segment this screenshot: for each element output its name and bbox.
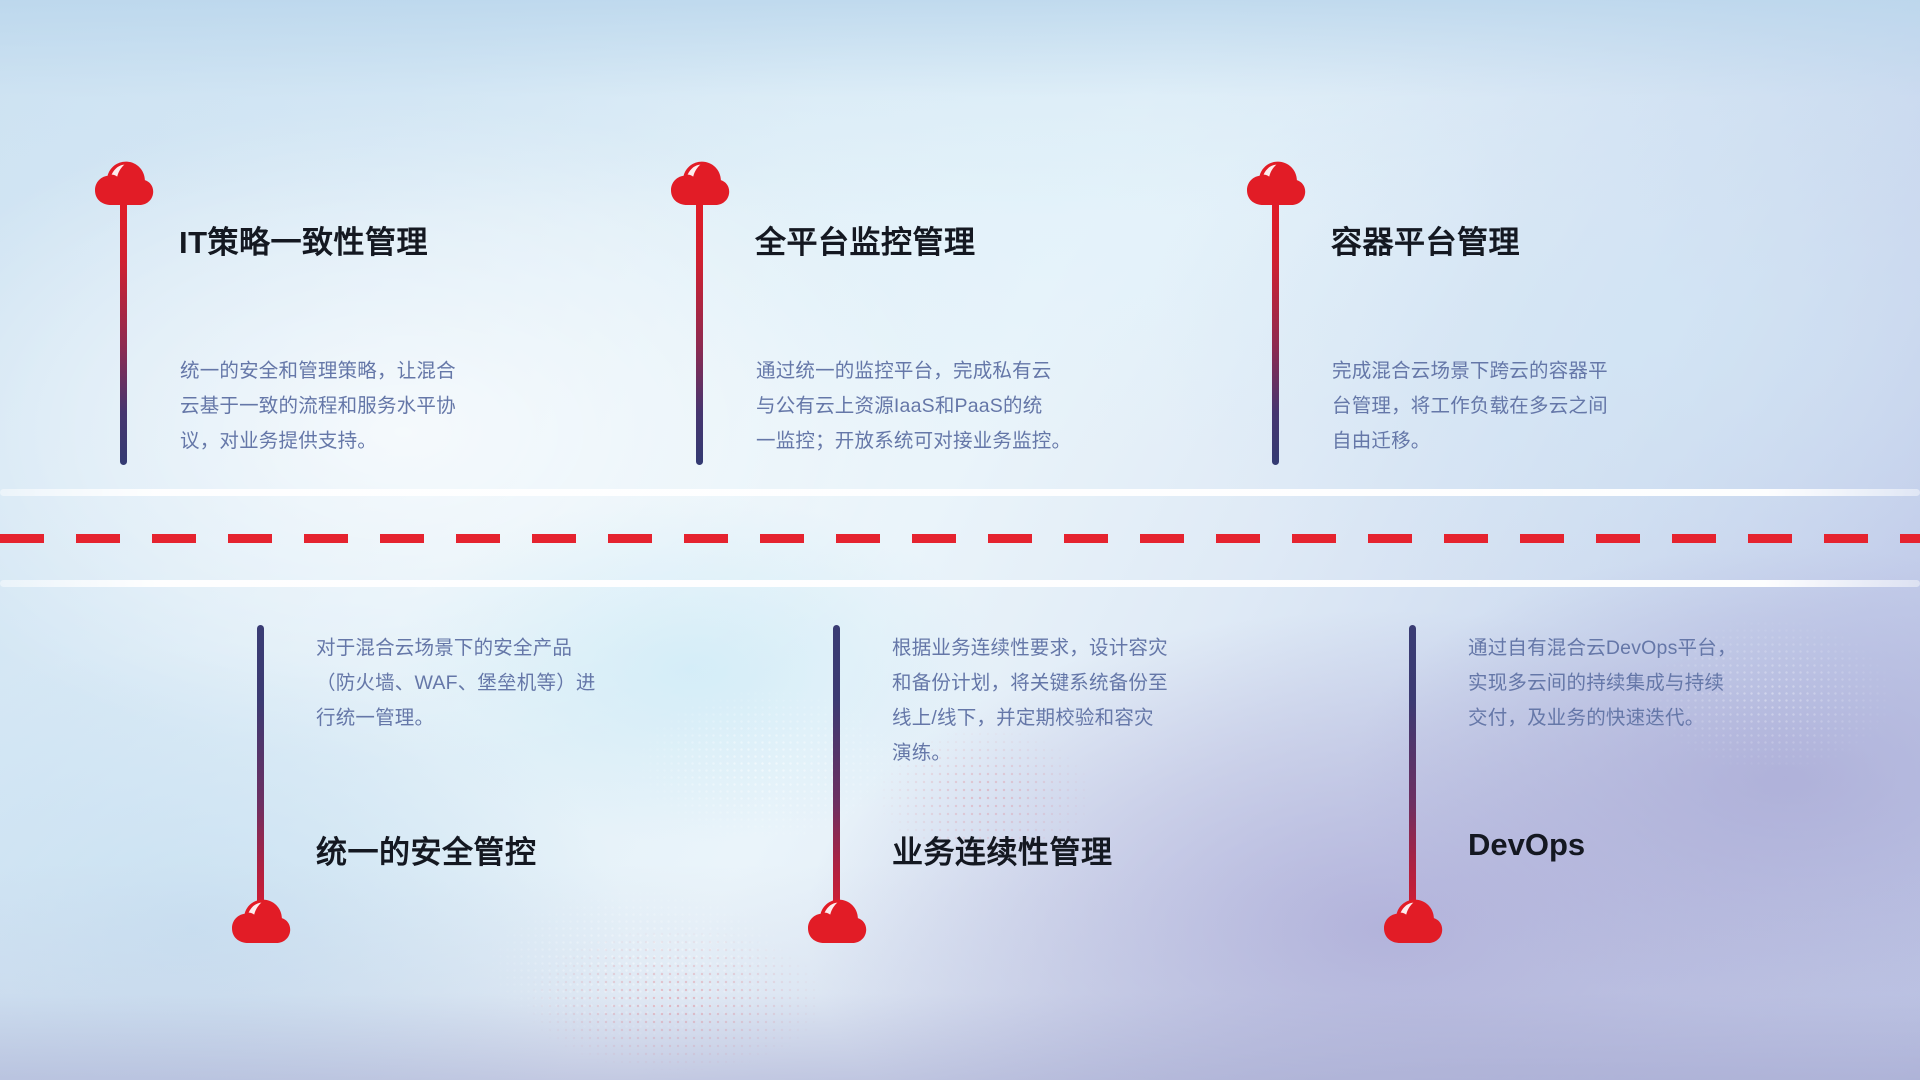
card-bottom-3: 通过自有混合云DevOps平台， 实现多云间的持续集成与持续 交付，及业务的快速… [0,0,640,500]
connector-stem [1272,200,1279,465]
connector-stem [257,625,264,915]
card-body: 根据业务连续性要求，设计容灾 和备份计划，将关键系统备份至 线上/线下，并定期校… [892,631,1332,771]
connector-stem [696,200,703,465]
divider-line-bottom [0,580,1920,587]
card-body: 对于混合云场景下的安全产品 （防火墙、WAF、堡垒机等）进 行统一管理。 [316,631,746,736]
cloud-icon [806,898,868,944]
card-title: 容器平台管理 [1331,217,1520,262]
card-title: 统一的安全管控 [316,827,537,872]
divider-dashed-line [0,534,1920,543]
infographic-canvas: IT策略一致性管理 统一的安全和管理策略，让混合 云基于一致的流程和服务水平协 … [0,0,1920,1080]
card-title: 全平台监控管理 [755,217,976,262]
connector-stem [1409,625,1416,915]
cloud-icon [1382,898,1444,944]
texture-speckle-red-a [530,930,820,1070]
card-body: 完成混合云场景下跨云的容器平 台管理，将工作负载在多云之间 自由迁移。 [1332,354,1772,459]
card-body: 通过统一的监控平台，完成私有云 与公有云上资源IaaS和PaaS的统 一监控；开… [756,354,1196,459]
center-divider [0,489,1920,599]
card-title: DevOps [1468,827,1585,863]
connector-stem [833,625,840,915]
cloud-icon [230,898,292,944]
card-title: 业务连续性管理 [892,827,1113,872]
card-body: 通过自有混合云DevOps平台， 实现多云间的持续集成与持续 交付，及业务的快速… [1468,631,1908,736]
